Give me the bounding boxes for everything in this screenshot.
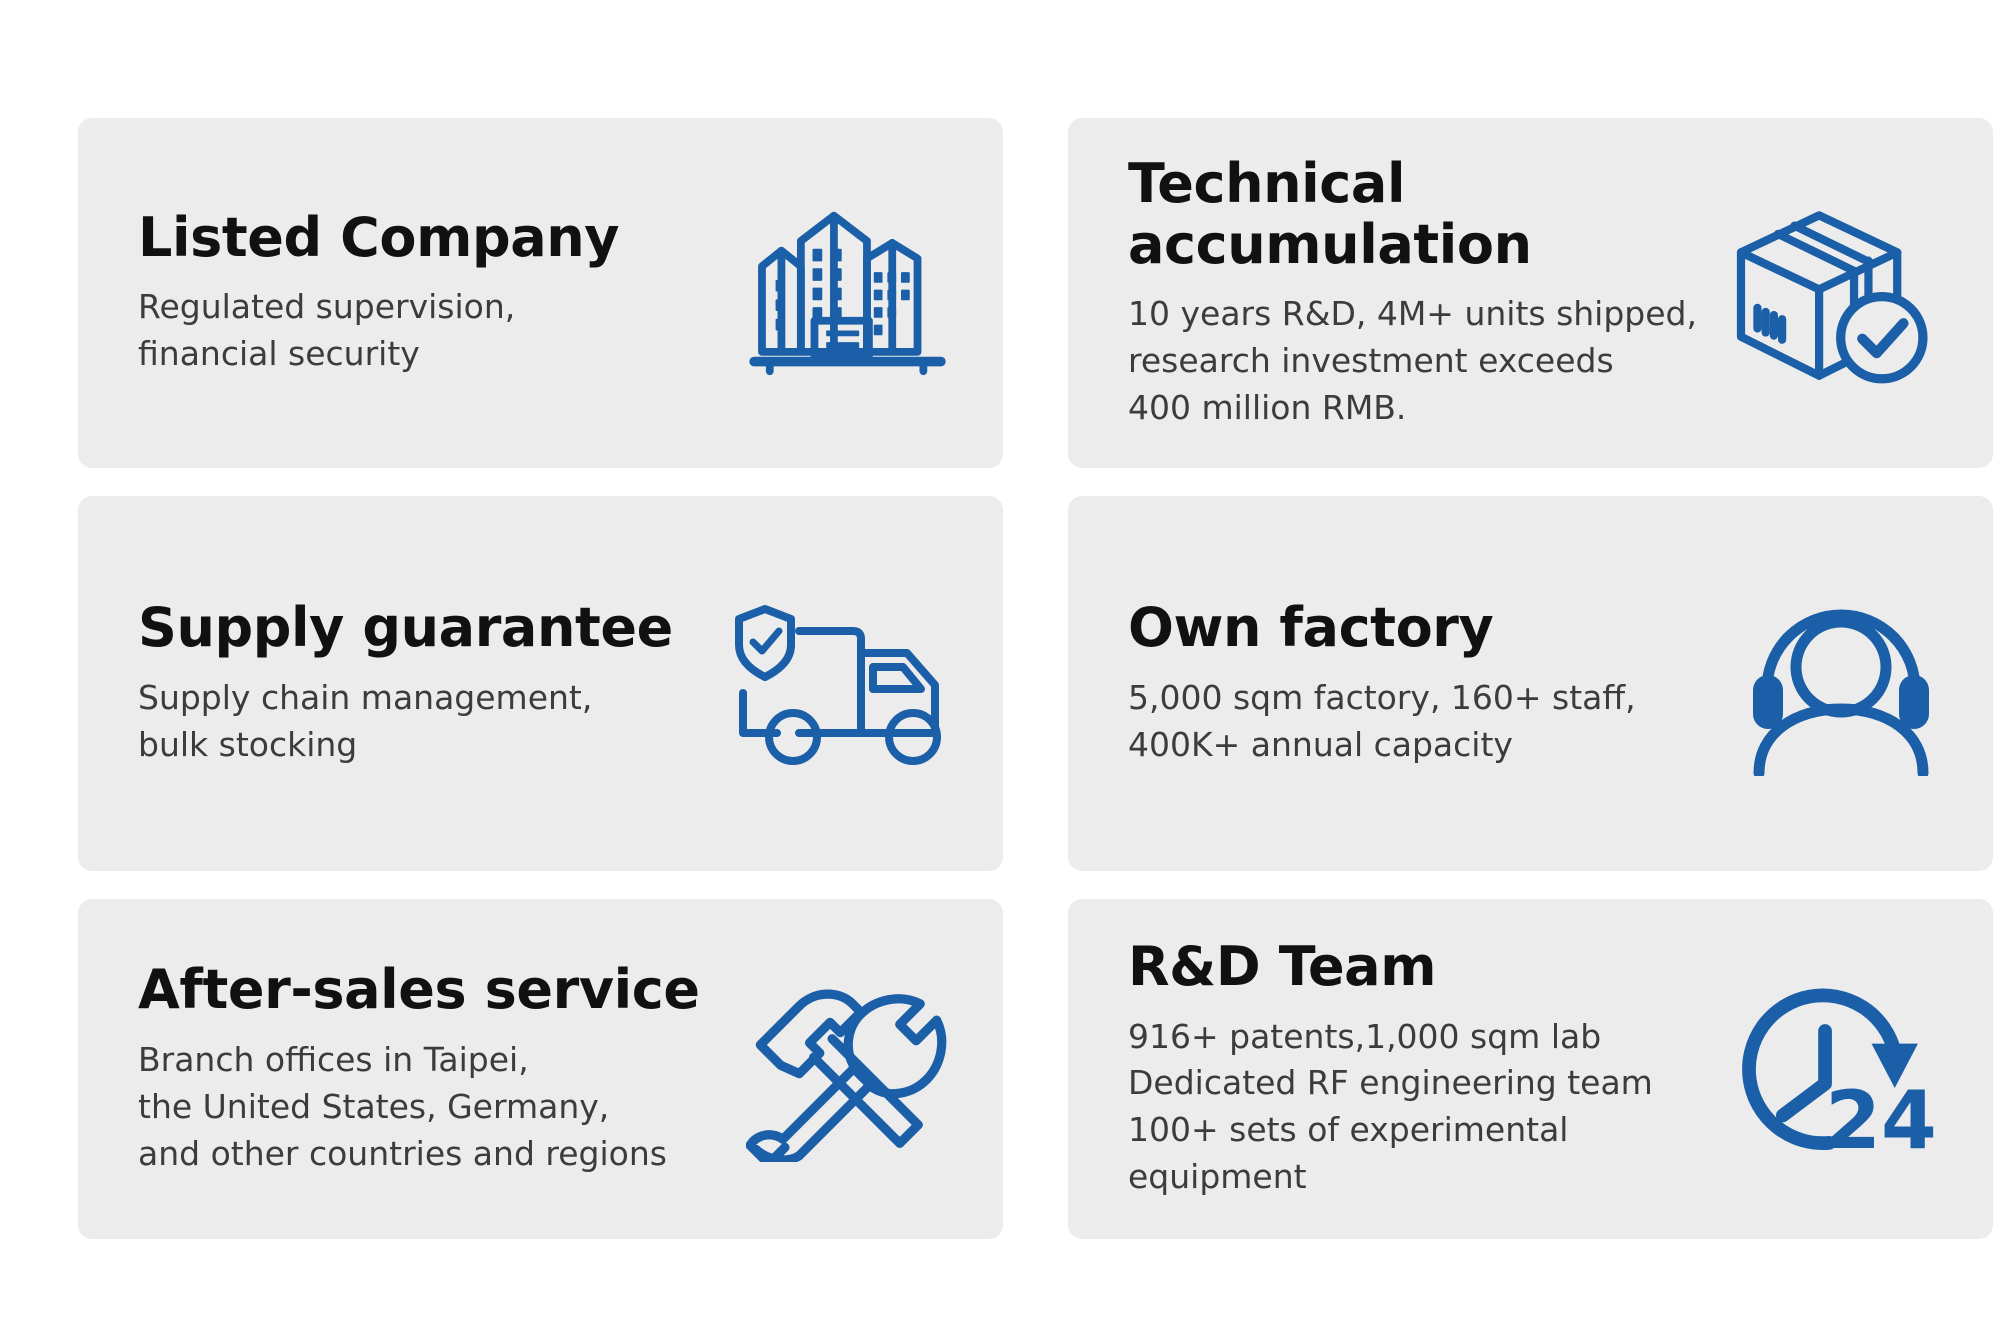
card-text-block: Listed Company Regulated supervision, fi… [138, 208, 746, 378]
card-body: 10 years R&D, 4M+ units shipped, researc… [1128, 291, 1710, 432]
card-text-block: Technical accumulation 10 years R&D, 4M+… [1128, 154, 1726, 432]
card-text-block: Own factory 5,000 sqm factory, 160+ staf… [1128, 598, 1741, 768]
package-check-icon [1726, 201, 1941, 386]
card-title: Technical accumulation [1128, 154, 1710, 275]
advantages-board: Listed Company Regulated supervision, fi… [0, 0, 2000, 1322]
card-after-sales-service[interactable]: After-sales service Branch offices in Ta… [78, 899, 1003, 1239]
office-buildings-icon [746, 206, 951, 381]
card-supply-guarantee[interactable]: Supply guarantee Supply chain management… [78, 496, 1003, 871]
card-listed-company[interactable]: Listed Company Regulated supervision, fi… [78, 118, 1003, 468]
delivery-truck-shield-icon [721, 601, 951, 766]
clock-24-label: 24 [1825, 1074, 1937, 1164]
headset-support-icon [1741, 591, 1941, 776]
card-text-block: R&D Team 916+ patents,1,000 sqm lab Dedi… [1128, 937, 1726, 1201]
card-body: 5,000 sqm factory, 160+ staff, 400K+ ann… [1128, 675, 1725, 769]
card-body: 916+ patents,1,000 sqm lab Dedicated RF … [1128, 1014, 1710, 1201]
advantages-grid: Listed Company Regulated supervision, fi… [78, 118, 1993, 1239]
clock-24h-icon: 24 [1726, 974, 1941, 1164]
card-own-factory[interactable]: Own factory 5,000 sqm factory, 160+ staf… [1068, 496, 1993, 871]
card-title: After-sales service [138, 960, 730, 1020]
card-title: Own factory [1128, 598, 1725, 658]
card-text-block: After-sales service Branch offices in Ta… [138, 960, 746, 1177]
card-title: Supply guarantee [138, 598, 705, 658]
card-technical-accumulation[interactable]: Technical accumulation 10 years R&D, 4M+… [1068, 118, 1993, 468]
card-text-block: Supply guarantee Supply chain management… [138, 598, 721, 768]
hammer-wrench-icon [746, 977, 951, 1162]
card-body: Branch offices in Taipei, the United Sta… [138, 1037, 730, 1178]
card-title: Listed Company [138, 208, 730, 268]
card-title: R&D Team [1128, 937, 1710, 997]
card-body: Supply chain management, bulk stocking [138, 675, 705, 769]
card-body: Regulated supervision, financial securit… [138, 284, 730, 378]
card-rd-team[interactable]: R&D Team 916+ patents,1,000 sqm lab Dedi… [1068, 899, 1993, 1239]
